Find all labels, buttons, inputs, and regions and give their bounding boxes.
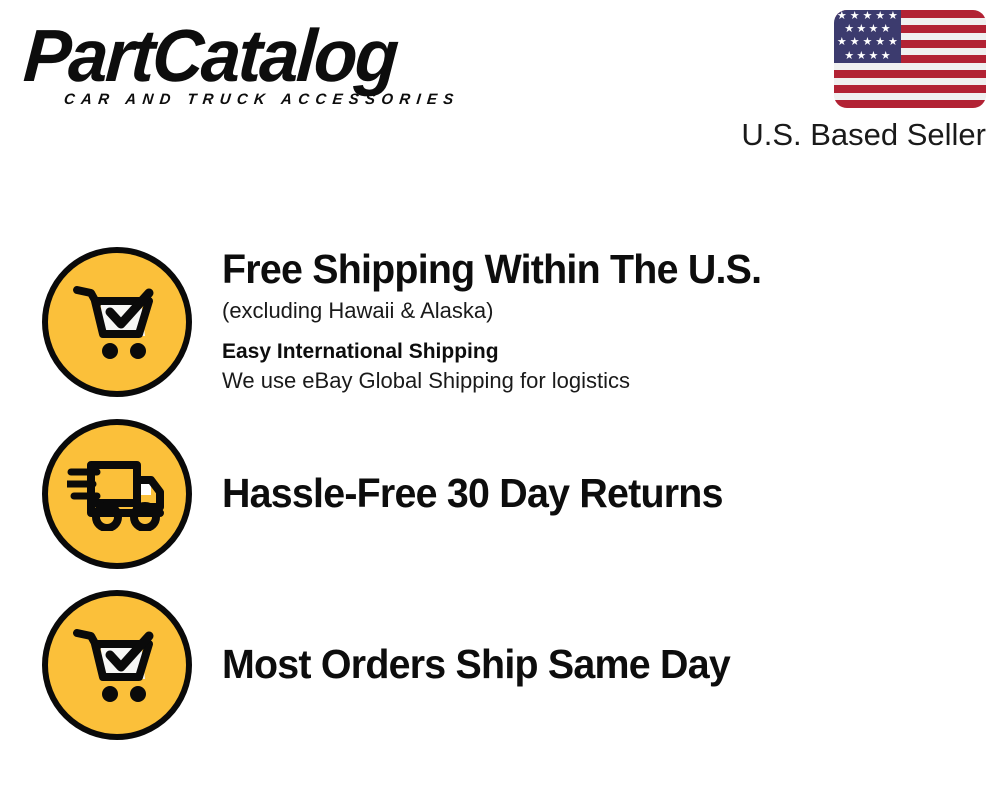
benefit-headline: Most Orders Ship Same Day <box>222 643 952 686</box>
benefit-text: Hassle-Free 30 Day Returns <box>222 472 982 515</box>
benefit-row: Hassle-Free 30 Day Returns <box>42 419 982 569</box>
us-based-seller-badge: ★★★★★ ★★★★ ★★★★★ ★★★★ U.S. Based Seller <box>714 10 986 153</box>
brand-tagline: CAR AND TRUCK ACCESSORIES <box>63 91 495 108</box>
us-flag-icon: ★★★★★ ★★★★ ★★★★★ ★★★★ <box>834 10 986 108</box>
benefit-row: Free Shipping Within The U.S. (excluding… <box>42 247 982 397</box>
page-header: PartCatalog CAR AND TRUCK ACCESSORIES ★★… <box>0 0 1000 175</box>
benefit-subhead: Easy International Shipping <box>222 338 982 365</box>
benefit-row: Most Orders Ship Same Day <box>42 590 982 740</box>
flag-canton: ★★★★★ ★★★★ ★★★★★ ★★★★ <box>834 10 901 63</box>
benefit-text: Most Orders Ship Same Day <box>222 643 982 686</box>
benefit-headline: Hassle-Free 30 Day Returns <box>222 472 952 515</box>
seller-location-label: U.S. Based Seller <box>714 117 986 153</box>
benefit-subnote: We use eBay Global Shipping for logistic… <box>222 367 982 396</box>
benefit-text: Free Shipping Within The U.S. (excluding… <box>222 248 982 395</box>
shopping-cart-check-icon <box>42 247 192 397</box>
brand-wordmark: PartCatalog <box>22 22 478 90</box>
shopping-cart-check-icon <box>42 590 192 740</box>
benefit-headline: Free Shipping Within The U.S. <box>222 248 952 291</box>
benefit-note: (excluding Hawaii & Alaska) <box>222 296 982 326</box>
brand-logo[interactable]: PartCatalog CAR AND TRUCK ACCESSORIES <box>24 22 494 108</box>
delivery-truck-icon <box>42 419 192 569</box>
